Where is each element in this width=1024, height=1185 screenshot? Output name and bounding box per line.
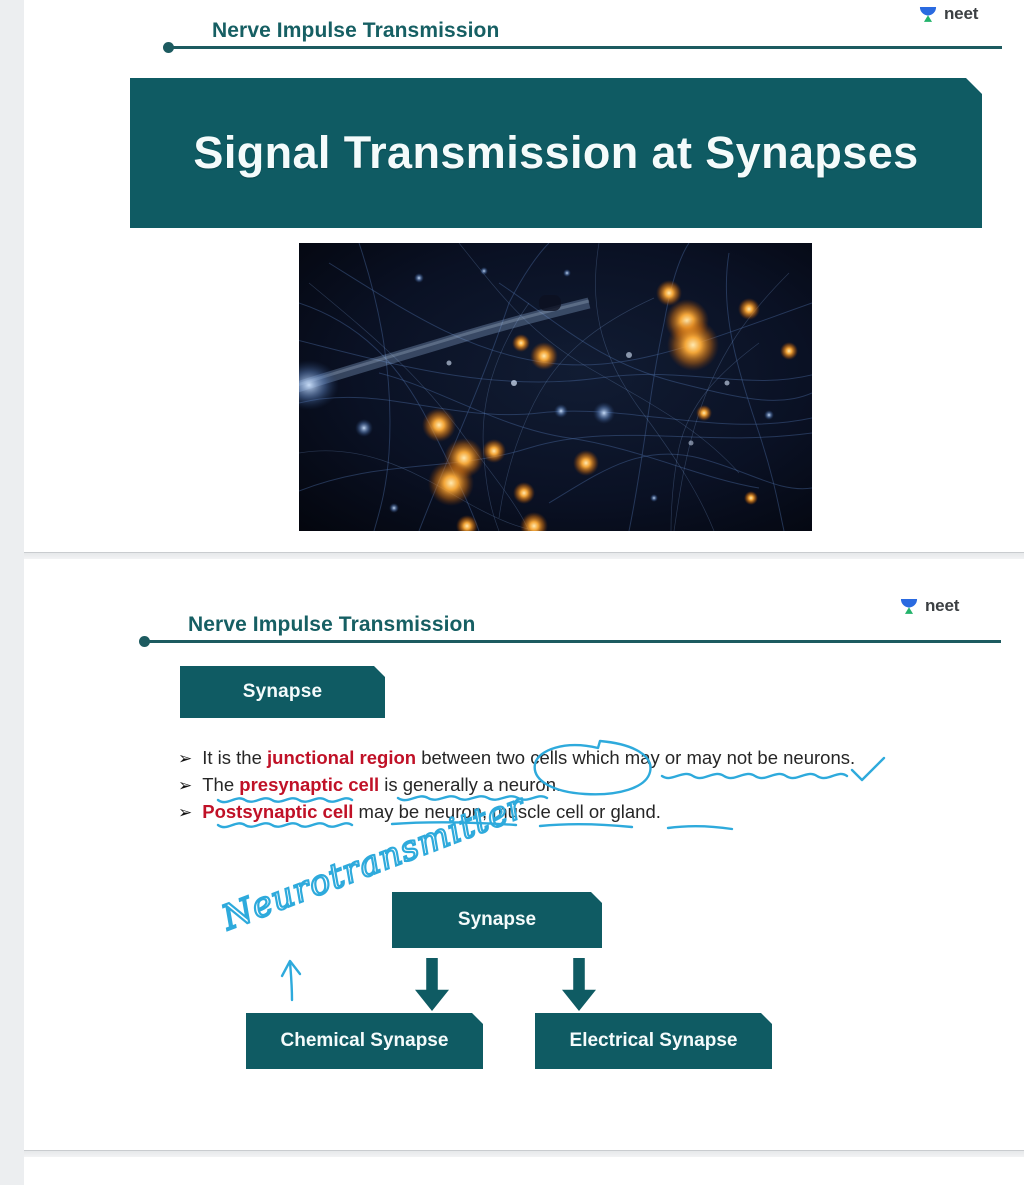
list-item: ➢It is the junctional region between two… bbox=[178, 745, 998, 772]
page-title-2: Nerve Impulse Transmission bbox=[188, 613, 475, 637]
flowchart-node-synapse: Synapse bbox=[392, 892, 602, 948]
page-separator-1 bbox=[24, 552, 1024, 564]
list-item: ➢The presynaptic cell is generally a neu… bbox=[178, 772, 998, 799]
list-item-text: Postsynaptic cell may be neuron, muscle … bbox=[202, 799, 661, 825]
rule-line bbox=[173, 46, 1002, 49]
slide-banner-title: Signal Transmission at Synapses bbox=[130, 78, 982, 228]
plain-text: may be neuron, muscle cell or gland. bbox=[353, 801, 660, 822]
plain-text: between two cells which may or may not b… bbox=[416, 747, 855, 768]
slide-page-1: neet Nerve Impulse Transmission Signal T… bbox=[24, 0, 1024, 552]
bullet-arrow-icon: ➢ bbox=[178, 773, 192, 799]
list-item-text: The presynaptic cell is generally a neur… bbox=[202, 772, 561, 798]
neural-network-image bbox=[299, 243, 812, 531]
brand-name: neet bbox=[944, 4, 978, 24]
title-rule bbox=[163, 42, 1002, 54]
highlighted-term: junctional region bbox=[267, 747, 416, 768]
flowchart-node-electrical-synapse: Electrical Synapse bbox=[535, 1013, 772, 1069]
funnel-trophy-icon bbox=[917, 3, 939, 25]
plain-text: The bbox=[202, 774, 239, 795]
neuron-illustration bbox=[299, 243, 812, 531]
list-item: ➢Postsynaptic cell may be neuron, muscle… bbox=[178, 799, 998, 826]
brand-name: neet bbox=[925, 596, 959, 616]
bullet-arrow-icon: ➢ bbox=[178, 746, 192, 772]
title-rule-2 bbox=[139, 636, 1001, 648]
page-title: Nerve Impulse Transmission bbox=[212, 19, 499, 43]
page-separator-2 bbox=[24, 1150, 1024, 1162]
bullet-list: ➢It is the junctional region between two… bbox=[178, 745, 998, 826]
highlighted-term: presynaptic cell bbox=[239, 774, 379, 795]
document-viewer: neet Nerve Impulse Transmission Signal T… bbox=[0, 0, 1024, 1185]
highlighted-term: Postsynaptic cell bbox=[202, 801, 353, 822]
section-chip-synapse: Synapse bbox=[180, 666, 385, 718]
plain-text: is generally a neuron. bbox=[379, 774, 561, 795]
flowchart-node-chemical-synapse: Chemical Synapse bbox=[246, 1013, 483, 1069]
slide-page-3 bbox=[24, 1162, 1024, 1185]
bullet-arrow-icon: ➢ bbox=[178, 800, 192, 826]
brand-logo-2: neet bbox=[898, 595, 959, 617]
funnel-trophy-icon bbox=[898, 595, 920, 617]
list-item-text: It is the junctional region between two … bbox=[202, 745, 855, 771]
slide-page-2 bbox=[24, 564, 1024, 1150]
brand-logo: neet bbox=[917, 3, 978, 25]
plain-text: It is the bbox=[202, 747, 267, 768]
rule-line bbox=[149, 640, 1001, 643]
